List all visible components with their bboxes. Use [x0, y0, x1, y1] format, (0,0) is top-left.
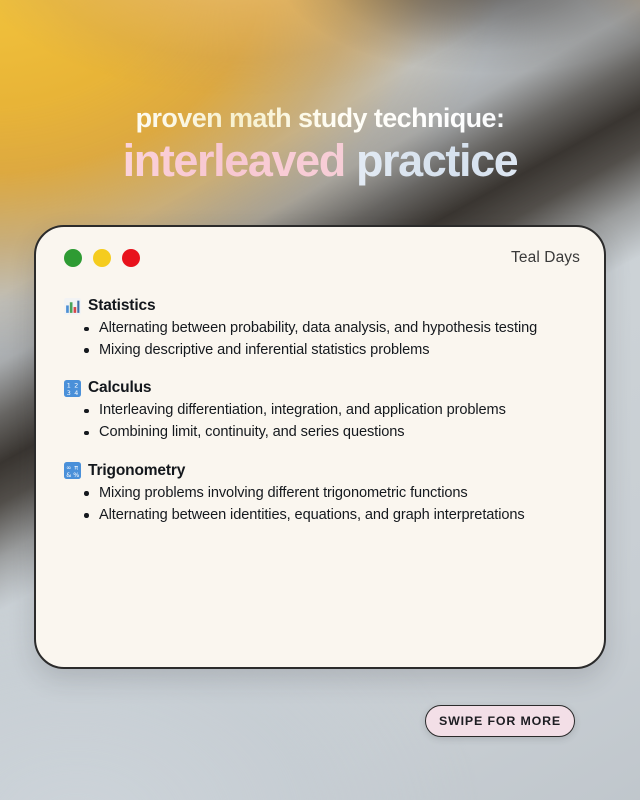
- svg-text:1: 1: [67, 381, 71, 389]
- input-symbols-icon: ∞ π & %: [64, 462, 81, 479]
- svg-text:π: π: [74, 464, 78, 472]
- svg-text:&: &: [66, 471, 71, 479]
- list-item: Combining limit, continuity, and series …: [82, 422, 578, 443]
- section-trigonometry-bullets: Mixing problems involving different trig…: [64, 483, 578, 525]
- section-calculus-title: Calculus: [88, 379, 151, 397]
- headline-line-2: interleaved practice: [0, 137, 640, 185]
- headline-word-practice: practice: [356, 135, 517, 186]
- section-calculus: 1 2 3 4 Calculus Interleaving differenti…: [64, 379, 578, 442]
- svg-text:%: %: [73, 471, 79, 479]
- poster-canvas: proven math study technique: interleaved…: [0, 0, 640, 800]
- section-statistics-header: Statistics: [64, 297, 578, 315]
- section-calculus-bullets: Interleaving differentiation, integratio…: [64, 400, 578, 442]
- card-body: Statistics Alternating between probabili…: [36, 289, 604, 525]
- brand-label: Teal Days: [511, 249, 580, 267]
- section-statistics: Statistics Alternating between probabili…: [64, 297, 578, 360]
- svg-text:2: 2: [74, 381, 78, 389]
- list-item: Alternating between identities, equation…: [82, 505, 578, 526]
- section-trigonometry-title: Trigonometry: [88, 462, 185, 480]
- window-dot-red[interactable]: [122, 249, 140, 267]
- list-item: Mixing descriptive and inferential stati…: [82, 340, 578, 361]
- window-dot-green[interactable]: [64, 249, 82, 267]
- svg-text:∞: ∞: [66, 464, 71, 472]
- section-statistics-title: Statistics: [88, 297, 155, 315]
- svg-text:4: 4: [74, 389, 78, 397]
- bar-chart-icon: [64, 298, 81, 315]
- swipe-for-more-label: SWIPE FOR MORE: [439, 714, 561, 728]
- headline: proven math study technique: interleaved…: [0, 104, 640, 185]
- content-card: Teal Days Statistics Alternating between: [34, 225, 606, 669]
- section-statistics-bullets: Alternating between probability, data an…: [64, 318, 578, 360]
- list-item: Interleaving differentiation, integratio…: [82, 400, 578, 421]
- svg-text:3: 3: [67, 389, 71, 397]
- section-trigonometry-header: ∞ π & % Trigonometry: [64, 462, 578, 480]
- swipe-for-more-button[interactable]: SWIPE FOR MORE: [425, 705, 575, 737]
- input-numbers-icon: 1 2 3 4: [64, 380, 81, 397]
- card-titlebar: Teal Days: [36, 227, 604, 289]
- section-trigonometry: ∞ π & % Trigonometry Mixing problems inv…: [64, 462, 578, 525]
- window-dot-yellow[interactable]: [93, 249, 111, 267]
- list-item: Alternating between probability, data an…: [82, 318, 578, 339]
- section-calculus-header: 1 2 3 4 Calculus: [64, 379, 578, 397]
- window-controls: [64, 249, 140, 267]
- headline-word-interleaved: interleaved: [123, 135, 345, 186]
- headline-line-1: proven math study technique:: [0, 104, 640, 133]
- list-item: Mixing problems involving different trig…: [82, 483, 578, 504]
